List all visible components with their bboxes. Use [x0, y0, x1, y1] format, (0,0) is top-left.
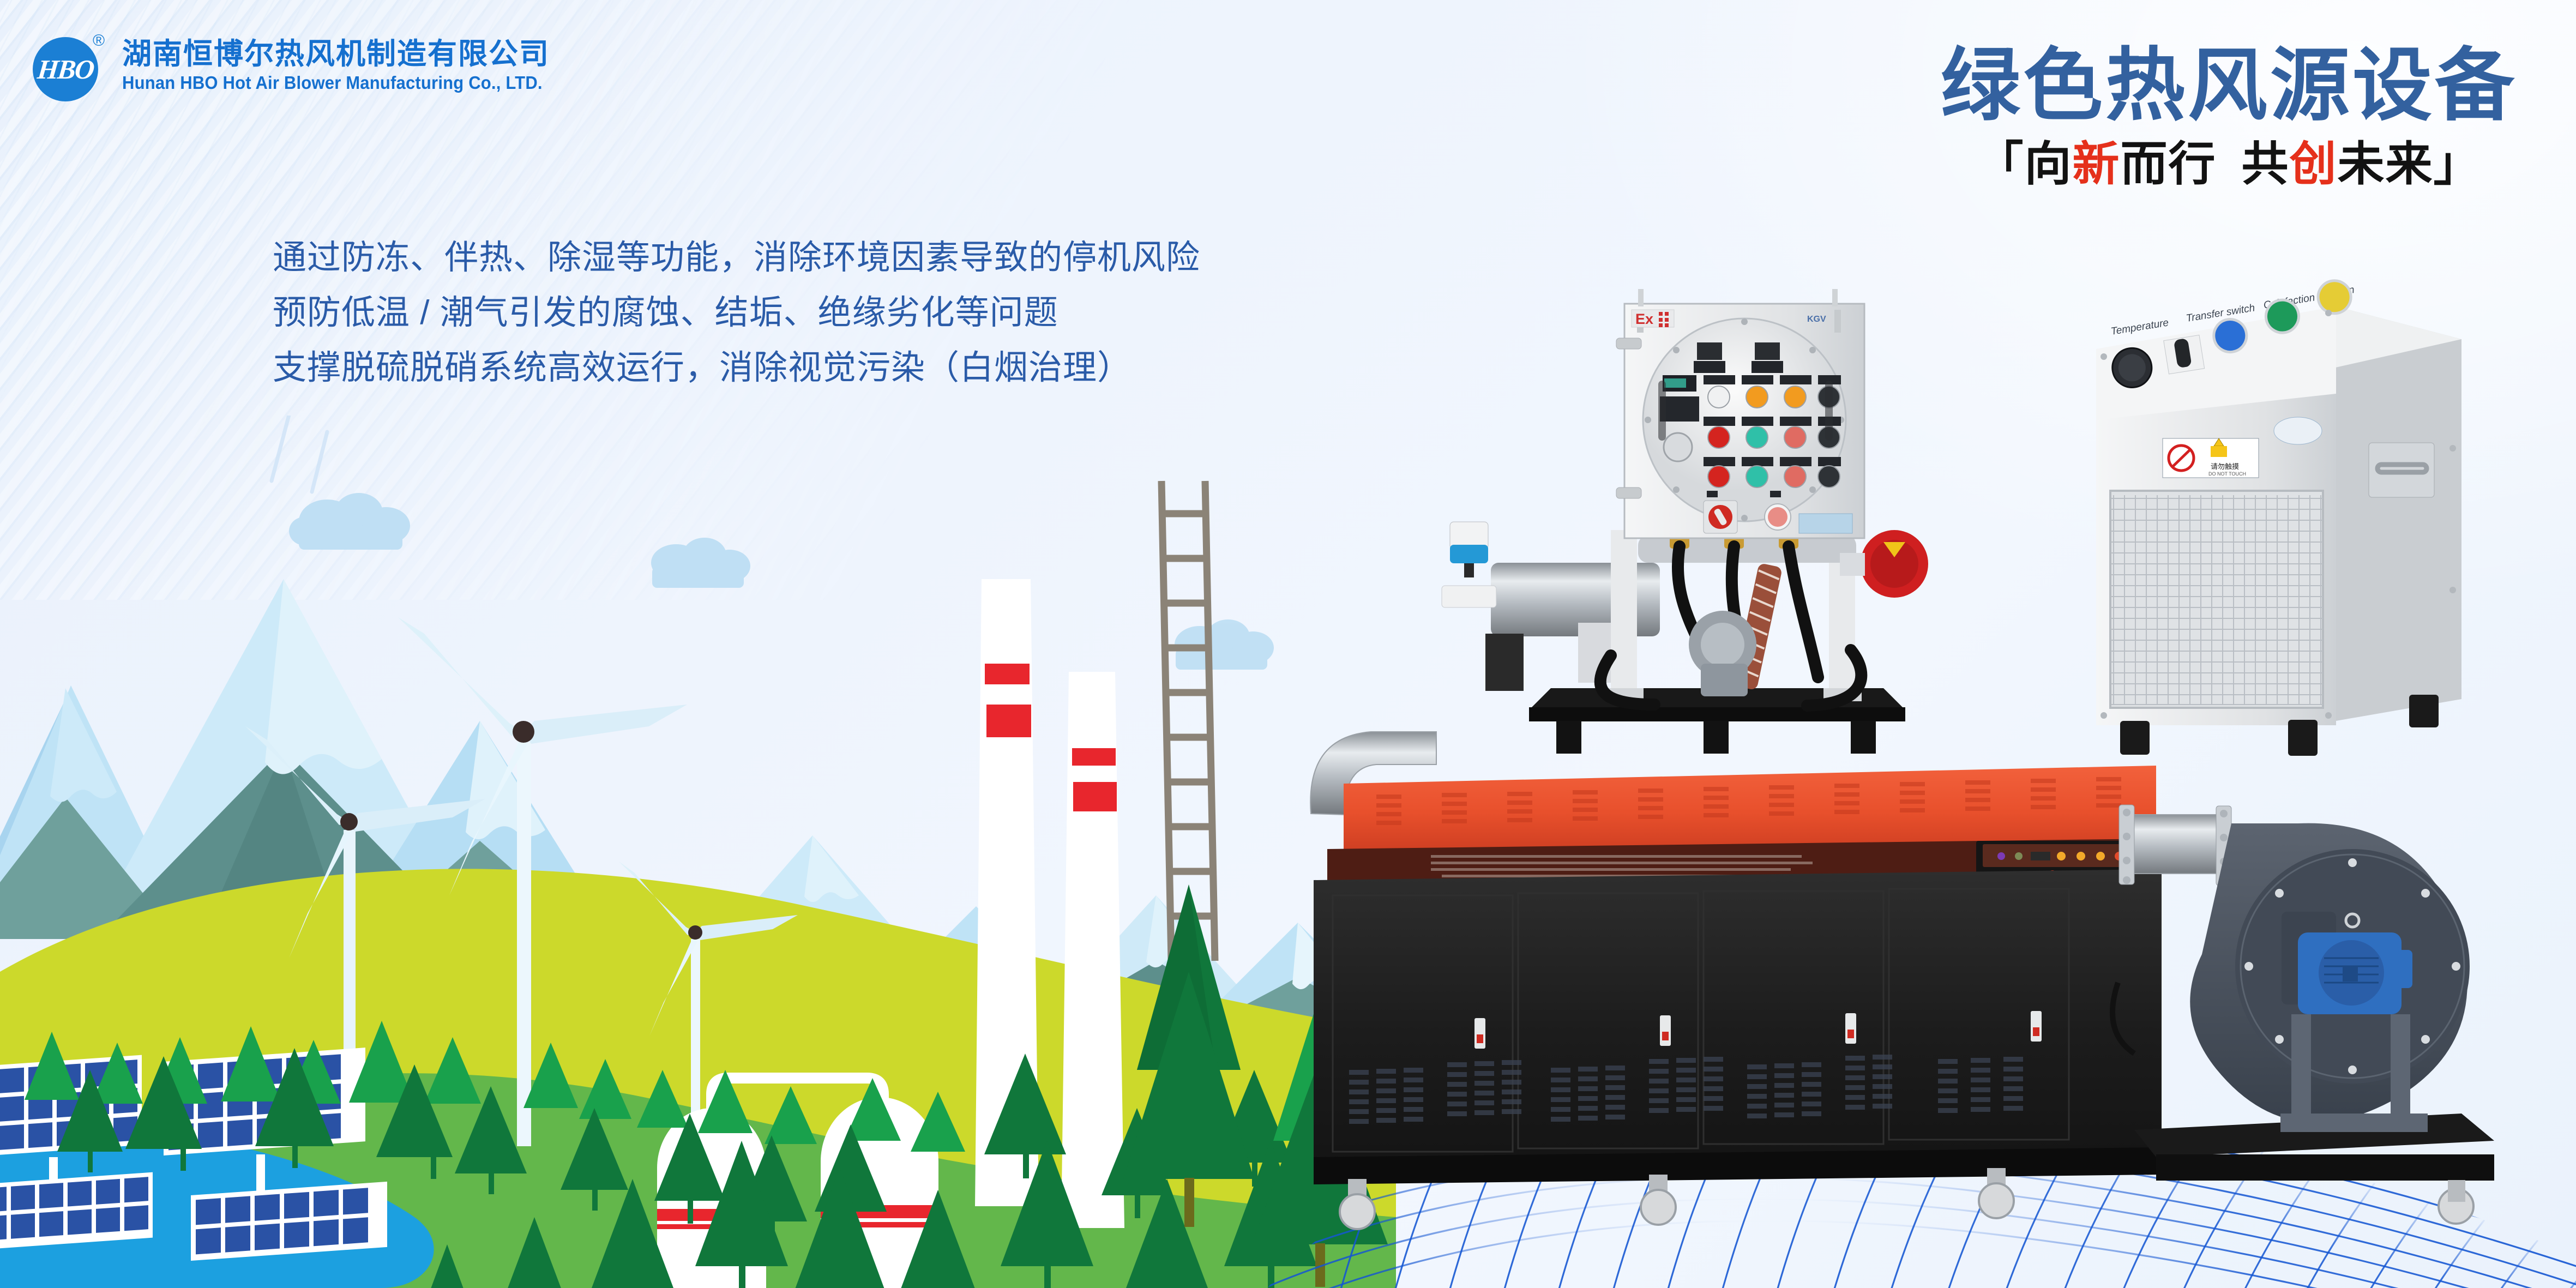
hbo-logo-icon: HBO ® [33, 25, 107, 107]
industrial-hot-air-blower [1310, 732, 2494, 1229]
centrifugal-blower [2119, 805, 2494, 1224]
benefit-line-1: 通过防冻、伴热、除湿等功能，消除环境因素导致的停机风险 [273, 240, 1200, 275]
benefit-line-2: 预防低温 / 潮气引发的腐蚀、结垢、绝缘劣化等问题 [273, 295, 1200, 330]
explosion-proof-control-unit: Ex KGV [1442, 289, 1928, 754]
slogan-mid: 而行 [2121, 138, 2217, 190]
company-name-cn: 湖南恒博尔热风机制造有限公司 [122, 39, 569, 70]
svg-text:Temperature: Temperature [2110, 317, 2169, 337]
headline-block: 绿色热风源设备 「向新而行共创未来」 [1941, 46, 2517, 188]
benefit-copy-block: 通过防冻、伴热、除湿等功能，消除环境因素导致的停机风险 预防低温 / 潮气引发的… [273, 240, 1200, 405]
company-name-en: Hunan HBO Hot Air Blower Manufacturing C… [122, 73, 543, 93]
brand-header: HBO ® 湖南恒博尔热风机制造有限公司 Hunan HBO Hot Air B… [33, 25, 569, 107]
slogan-open: 「向 [1977, 138, 2073, 190]
svg-text:Ex: Ex [1635, 311, 1653, 327]
registered-trademark-icon: ® [93, 32, 105, 50]
warning-sticker: 请勿触摸 DO NOT TOUCH [2163, 438, 2259, 478]
ex-badge-icon: Ex [1632, 310, 1674, 327]
poster-title: 绿色热风源设备 [1941, 46, 2517, 125]
poster-canvas: Ex KGV [0, 0, 2576, 1288]
air-cooled-heater-cabinet: Temperature Transfer switch Calefaction … [2096, 278, 2461, 756]
slogan-close: 未来」 [2338, 138, 2482, 190]
slogan-accent-1: 新 [2073, 138, 2121, 190]
carry-handle [2369, 443, 2434, 497]
equipment-photo-group: Ex KGV [1267, 252, 2576, 1288]
benefit-line-3: 支撑脱硫脱硝系统高效运行，消除视觉污染（白烟治理） [273, 350, 1200, 386]
poster-slogan: 「向新而行共创未来」 [1941, 141, 2517, 188]
svg-text:请勿触摸: 请勿触摸 [2211, 462, 2239, 471]
slogan-part2: 共 [2242, 138, 2290, 190]
slogan-accent-2: 创 [2290, 138, 2338, 190]
rain-streaks [272, 416, 327, 492]
svg-text:DO NOT TOUCH: DO NOT TOUCH [2208, 471, 2246, 477]
cloud-icon [289, 493, 1274, 670]
logo-monogram: HBO [36, 53, 95, 85]
svg-text:KGV: KGV [1807, 315, 1826, 324]
